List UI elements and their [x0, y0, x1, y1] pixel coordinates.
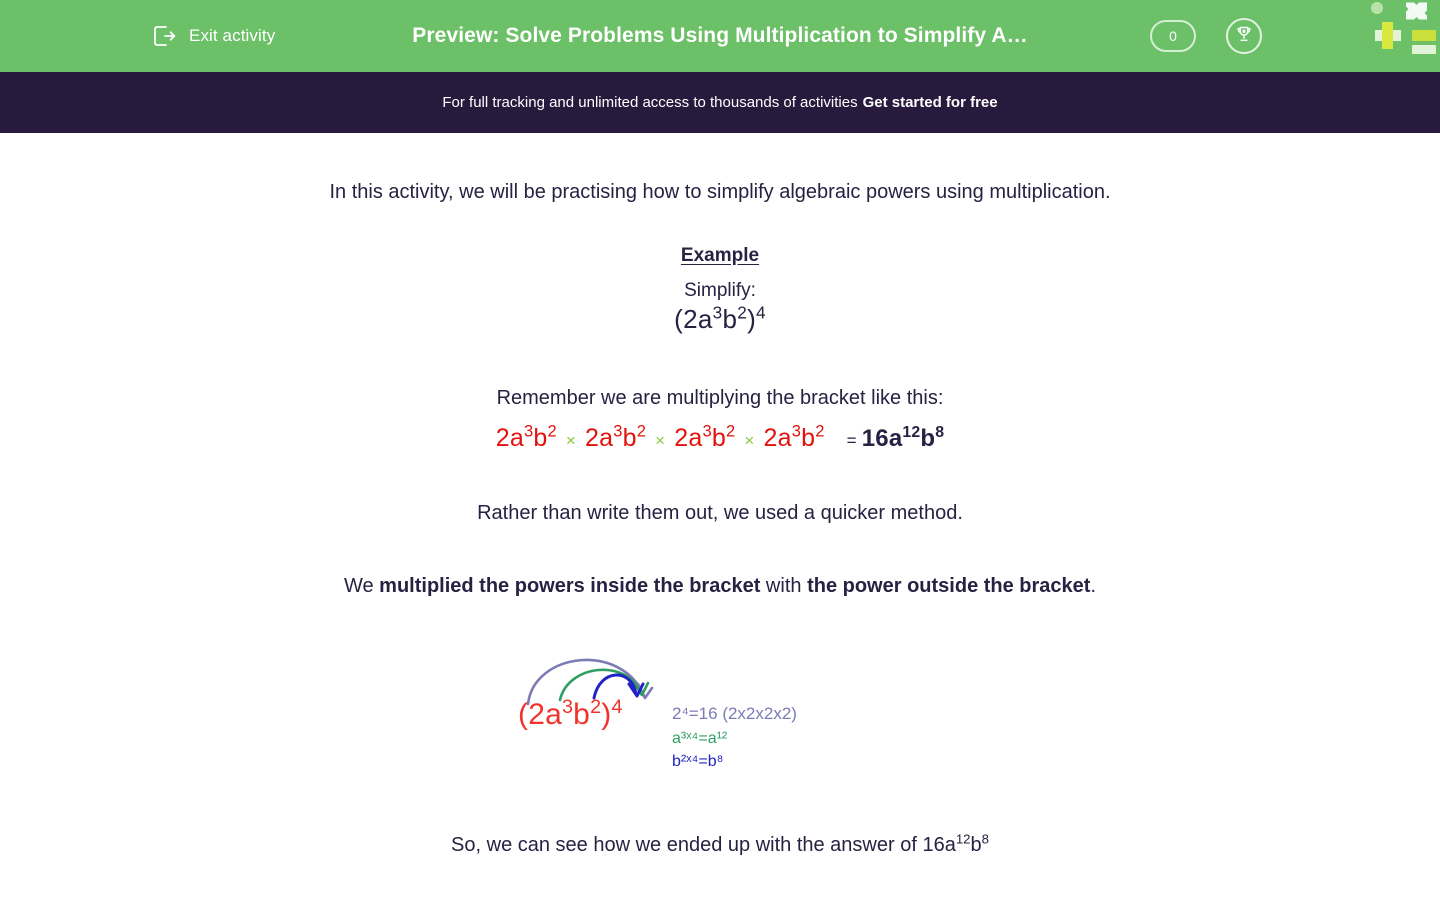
expr-b: b: [722, 304, 737, 334]
multiplied-bold-1: multiplied the powers inside the bracket: [379, 575, 760, 597]
so-we-b: b: [970, 834, 981, 856]
times-symbol-2: ×: [655, 431, 665, 451]
answer-base: 16a: [862, 425, 903, 452]
diagram-note-a: a³ˣ⁴=a¹²: [672, 727, 797, 750]
term-base: 2a: [763, 424, 791, 452]
term-b: b: [533, 424, 547, 452]
header-actions: 0: [1150, 18, 1262, 54]
page-title: Preview: Solve Problems Using Multiplica…: [412, 24, 1027, 48]
score-value: 0: [1169, 28, 1177, 44]
equals-symbol: =: [847, 431, 857, 451]
expr-exp-outer: 4: [756, 302, 766, 322]
diagram-note-coefficient: 2⁴=16 (2x2x2x2): [672, 702, 797, 727]
app-header: Exit activity Preview: Solve Problems Us…: [0, 0, 1440, 72]
term-exp-b: 2: [547, 423, 556, 441]
multiplied-text: We multiplied the powers inside the brac…: [0, 573, 1440, 600]
diagram-expr-exp-a: 3: [562, 696, 573, 718]
diagram-expr-exp-outer: 4: [611, 696, 622, 718]
diagram-notes: 2⁴=16 (2x2x2x2) a³ˣ⁴=a¹² b²ˣ⁴=b⁸: [672, 702, 797, 773]
so-we-prefix: So, we can see how we ended up with the …: [451, 834, 956, 856]
expansion-answer: 16a12b8: [862, 425, 945, 453]
answer-exp-b: 8: [935, 424, 944, 441]
term-b: b: [623, 424, 637, 452]
promo-banner: For full tracking and unlimited access t…: [0, 72, 1440, 133]
multiplied-part-2: with: [760, 575, 807, 597]
expr-exp-a: 3: [713, 302, 723, 322]
term-exp-b: 2: [637, 423, 646, 441]
term-base: 2a: [496, 424, 524, 452]
diagram-expr-b: b: [573, 698, 590, 731]
term-exp-a: 3: [702, 423, 711, 441]
multiplied-part-1: We: [344, 575, 379, 597]
expr-close: ): [747, 304, 756, 334]
expr-exp-b: 2: [737, 302, 747, 322]
term-b: b: [801, 424, 815, 452]
example-heading: Example: [0, 245, 1440, 267]
term-b: b: [712, 424, 726, 452]
term-base: 2a: [585, 424, 613, 452]
rather-text: Rather than write them out, we used a qu…: [0, 500, 1440, 527]
term-base: 2a: [674, 424, 702, 452]
term-exp-b: 2: [815, 423, 824, 441]
expansion-term-1: 2a3b2: [496, 424, 557, 453]
diagram-note-b: b²ˣ⁴=b⁸: [672, 750, 797, 773]
intro-text: In this activity, we will be practising …: [0, 179, 1440, 206]
exit-activity-button[interactable]: Exit activity: [150, 22, 275, 50]
expansion-term-3: 2a3b2: [674, 424, 735, 453]
example-expression: (2a3b2)4: [0, 304, 1440, 335]
expansion-expression: 2a3b2 × 2a3b2 × 2a3b2 × 2a3b2 = 16a12b8: [0, 424, 1440, 453]
get-started-link[interactable]: Get started for free: [863, 94, 998, 111]
so-we-text: So, we can see how we ended up with the …: [0, 832, 1440, 859]
term-exp-a: 3: [613, 423, 622, 441]
diagram-expr-exp-b: 2: [590, 696, 601, 718]
remember-text: Remember we are multiplying the bracket …: [0, 385, 1440, 412]
term-exp-a: 3: [524, 423, 533, 441]
expr-open: (2a: [674, 304, 712, 334]
trophy-icon: [1234, 24, 1254, 49]
term-exp-b: 2: [726, 423, 735, 441]
so-we-exp-b: 8: [982, 831, 989, 846]
diagram-expr-close: ): [601, 698, 611, 731]
exit-activity-label: Exit activity: [189, 26, 275, 46]
so-we-exp-a: 12: [956, 831, 971, 846]
decorative-shapes: [1360, 0, 1440, 60]
answer-exp-a: 12: [902, 424, 920, 441]
exit-door-arrow-icon: [150, 22, 178, 50]
power-multiplication-diagram: (2a3b2)4 2⁴=16 (2x2x2x2) a³ˣ⁴=a¹² b²ˣ⁴=b…: [510, 638, 930, 788]
diagram-expr-open: (2a: [518, 698, 562, 731]
multiplied-part-3: .: [1090, 575, 1096, 597]
diagram-expression: (2a3b2)4: [518, 698, 623, 732]
simplify-label: Simplify:: [0, 280, 1440, 302]
times-symbol-1: ×: [566, 431, 576, 451]
score-badge[interactable]: 0: [1150, 20, 1196, 52]
expansion-term-2: 2a3b2: [585, 424, 646, 453]
trophy-button[interactable]: [1226, 18, 1262, 54]
promo-banner-text: For full tracking and unlimited access t…: [442, 94, 857, 111]
times-symbol-3: ×: [744, 431, 754, 451]
term-exp-a: 3: [792, 423, 801, 441]
expansion-term-4: 2a3b2: [763, 424, 824, 453]
multiplied-bold-2: the power outside the bracket: [807, 575, 1090, 597]
answer-b: b: [920, 425, 935, 452]
activity-content: In this activity, we will be practising …: [0, 133, 1440, 900]
